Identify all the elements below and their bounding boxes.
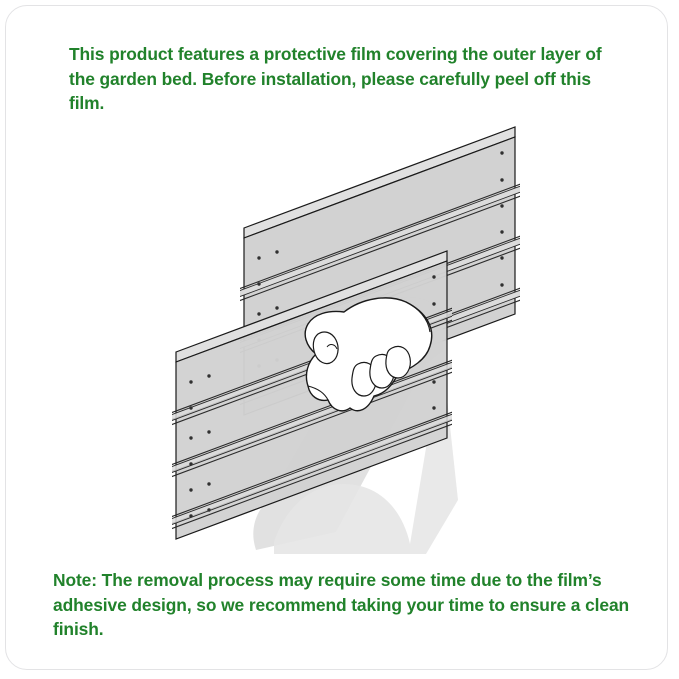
garden-bed-peel-film-illustration [6, 102, 668, 562]
instruction-card: This product features a protective film … [5, 5, 668, 670]
bottom-note-text: Note: The removal process may require so… [53, 568, 636, 642]
thumb [313, 332, 338, 364]
ring-finger [386, 346, 411, 378]
illustration-figure [6, 102, 668, 562]
screenshot-root: This product features a protective film … [0, 0, 679, 679]
